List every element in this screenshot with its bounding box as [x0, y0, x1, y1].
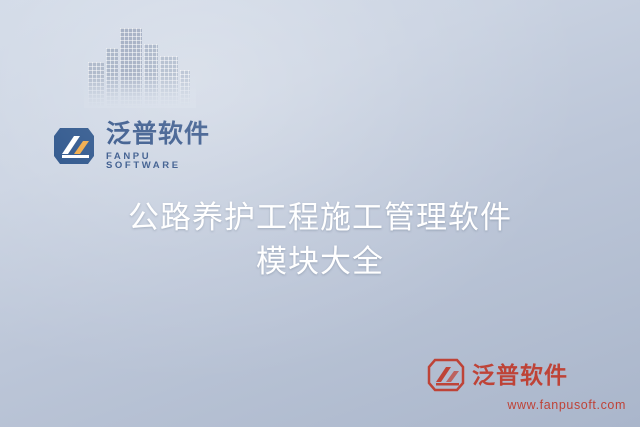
brand-name-cn: 泛普软件 [106, 122, 230, 147]
page-title: 公路养护工程施工管理软件 模块大全 [0, 196, 640, 284]
watermark: 泛普软件 www.fanpusoft.com [426, 357, 626, 413]
watermark-row: 泛普软件 [426, 357, 626, 393]
watermark-name-cn: 泛普软件 [472, 364, 568, 387]
brand-logo: 泛普软件 FANPU SOFTWARE [50, 120, 230, 172]
page-title-line-1: 公路养护工程施工管理软件 [0, 196, 640, 240]
page-title-line-2: 模块大全 [0, 240, 640, 284]
brand-logo-text: 泛普软件 FANPU SOFTWARE [106, 122, 230, 171]
brand-name-en: FANPU SOFTWARE [106, 152, 230, 171]
building-fade-overlay [84, 74, 196, 108]
slide-canvas: 泛普软件 FANPU SOFTWARE 公路养护工程施工管理软件 模块大全 泛普… [0, 0, 640, 427]
watermark-url: www.fanpusoft.com [426, 398, 626, 412]
watermark-logo-icon [426, 357, 466, 393]
fanpu-logo-icon [50, 124, 98, 168]
pixel-buildings-graphic [88, 14, 192, 106]
